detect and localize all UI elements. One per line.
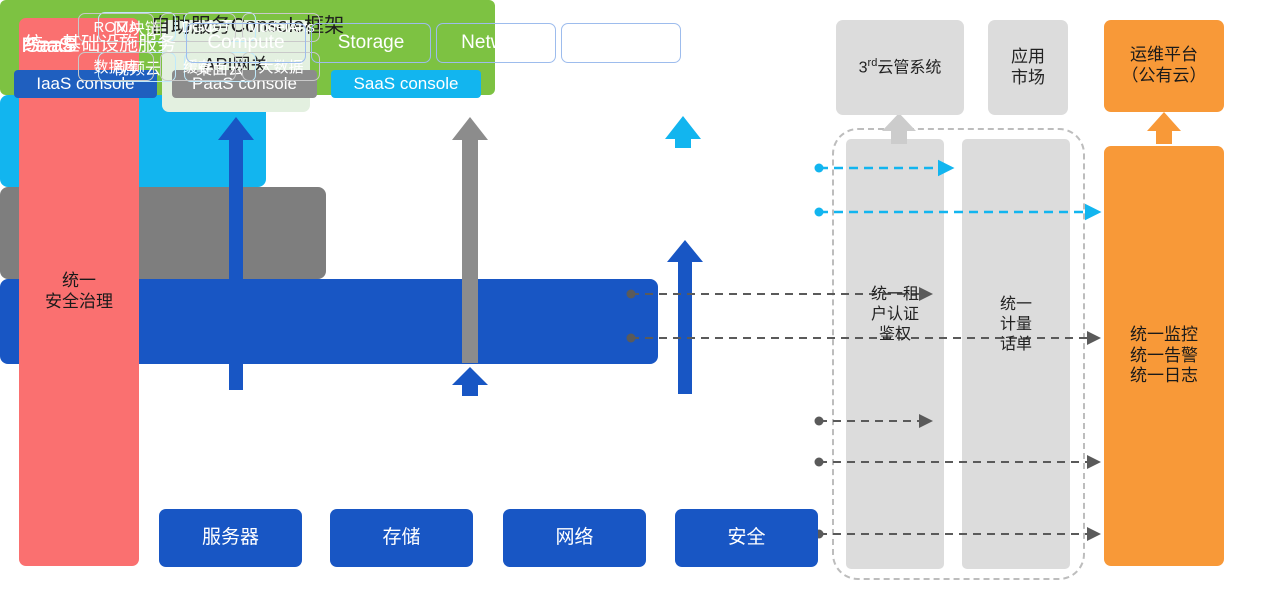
saas-console-chip[interactable]: SaaS console <box>331 70 481 98</box>
hardware-label-network: 网络 <box>555 526 593 549</box>
shared-service-label-auth: 统一租户认证鉴权 <box>846 270 944 360</box>
ops-platform-label: 运维平台（公有云） <box>1122 45 1207 86</box>
infra-chip-network[interactable]: Network <box>436 23 556 63</box>
shared-service-label-billing: 统一计量话单 <box>962 280 1070 370</box>
hardware-label-storage: 存储 <box>382 526 420 549</box>
arrow-ops-column-to-ops-platform <box>1147 112 1181 144</box>
arrow-saas-to-console <box>665 116 701 148</box>
hardware-box-server[interactable]: 服务器 <box>159 509 302 567</box>
ops-monitoring-column[interactable]: 统一监控统一告警统一日志 <box>1104 146 1224 566</box>
ops-platform-box[interactable]: 运维平台（公有云） <box>1104 20 1224 112</box>
infra-chip-storage[interactable]: Storage <box>311 23 431 63</box>
third-party-cloud-management-label: 3rd云管系统 <box>859 57 942 78</box>
hardware-box-storage[interactable]: 存储 <box>330 509 473 567</box>
infrastructure-label: 统一基础设施服务 <box>14 0 186 85</box>
app-market-label: 应用市场 <box>1011 47 1045 88</box>
infra-chip-compute[interactable]: Compute <box>186 23 306 63</box>
hardware-box-network[interactable]: 网络 <box>503 509 646 567</box>
architecture-diagram: 统一安全治理 API网关 自助服务Console框架 IaaS console … <box>0 0 1265 605</box>
hardware-label-server: 服务器 <box>202 526 259 549</box>
third-party-cloud-management-box[interactable]: 3rd云管系统 <box>836 20 964 115</box>
hardware-label-security: 安全 <box>727 526 765 549</box>
arrow-infra-to-saas <box>667 240 703 394</box>
app-market-box[interactable]: 应用市场 <box>988 20 1068 115</box>
infra-chip-cce[interactable]: CCE <box>561 23 681 63</box>
ops-monitoring-label: 统一监控统一告警统一日志 <box>1130 325 1198 387</box>
unified-security-governance-label: 统一安全治理 <box>45 271 113 312</box>
arrow-infra-to-paas <box>452 367 488 396</box>
unified-security-governance-column[interactable]: 统一安全治理 <box>19 18 139 566</box>
hardware-box-security[interactable]: 安全 <box>675 509 818 567</box>
